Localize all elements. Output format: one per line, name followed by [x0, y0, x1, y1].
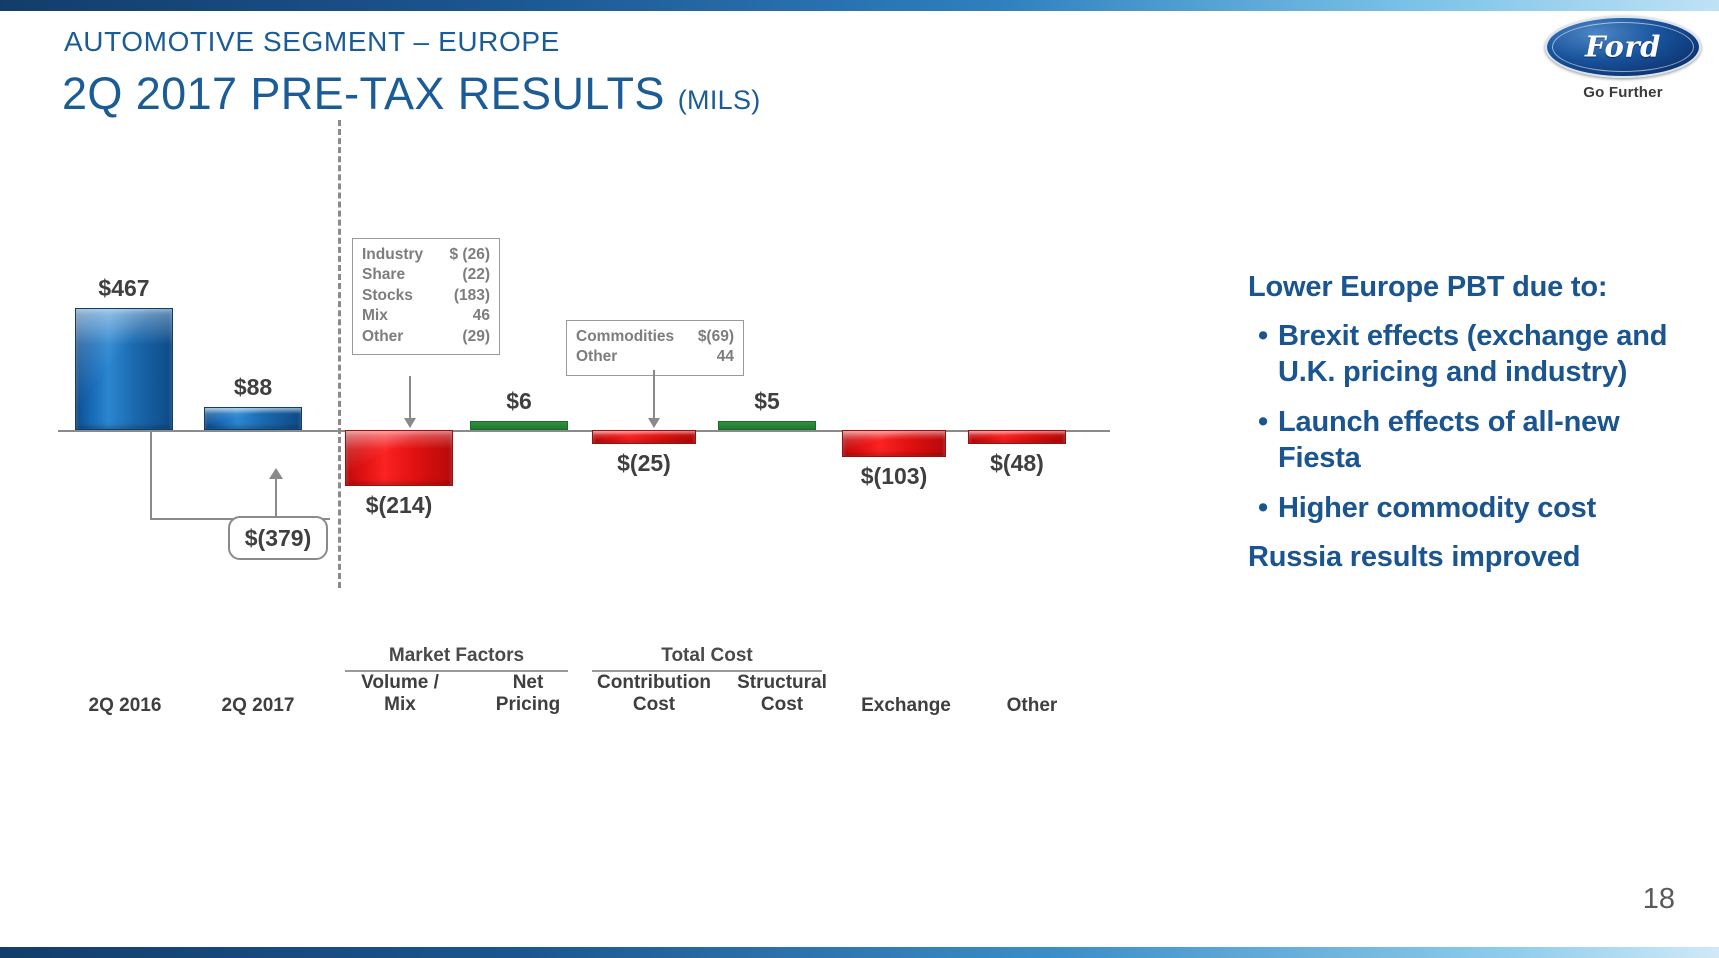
chart-annotation-key: Stocks: [362, 286, 431, 306]
chart-category-label-line: Contribution: [578, 672, 730, 694]
chart-annotation-row: Other44: [576, 347, 734, 367]
bullet-dot-icon: •: [1248, 405, 1278, 477]
chart-annotation-key: Share: [362, 265, 423, 285]
chart-bar-2q-2017: [204, 407, 302, 430]
chart-category-label-line: Cost: [578, 694, 730, 716]
chart-category-label: Volume /Mix: [330, 672, 470, 717]
commentary-bullet-text: Launch effects of all-new Fiesta: [1278, 405, 1698, 477]
chart-category-label-line: 2Q 2017: [188, 695, 328, 717]
chart-annotation-row: Other(29): [362, 327, 490, 347]
chart-category-label-line: Pricing: [458, 694, 598, 716]
chart-bar-structural-cost: [718, 421, 816, 430]
chart-bar-contribution-cost: [592, 430, 696, 444]
chart-section-divider: [338, 120, 341, 588]
chart-annotation-value: (22): [462, 265, 490, 285]
chart-category-label: 2Q 2016: [55, 695, 195, 717]
chart-category-label: Exchange: [836, 695, 976, 717]
commentary-bullet: •Brexit effects (exchange and U.K. prici…: [1248, 319, 1698, 391]
chart-category-label-line: Exchange: [836, 695, 976, 717]
chart-group-label: Market Factors: [345, 645, 568, 667]
page-title: 2Q 2017 PRE-TAX RESULTS (MILS): [62, 68, 761, 120]
commentary-bullet-list: •Brexit effects (exchange and U.K. prici…: [1248, 319, 1698, 527]
chart-annotation-arrow-stem: [653, 370, 655, 418]
ford-logo: Ford Go Further: [1543, 16, 1703, 101]
chart-category-label-line: Mix: [330, 694, 470, 716]
chart-annotation-value: (29): [462, 327, 490, 347]
chart-value-label: $(25): [592, 450, 696, 477]
chart-bar-other: [968, 430, 1066, 444]
chart-category-label: NetPricing: [458, 672, 598, 717]
slide-title: 2Q 2017 PRE-TAX RESULTS: [62, 68, 665, 120]
chart-annotation-row: Stocks(183): [362, 286, 490, 306]
chart-category-label-line: Cost: [712, 694, 852, 716]
chart-group-header: Total Cost: [592, 645, 822, 672]
page-number: 18: [1643, 883, 1675, 916]
chart-group-header: Market Factors: [345, 645, 568, 672]
delta-bracket: [150, 430, 330, 520]
bullet-dot-icon: •: [1248, 319, 1278, 391]
slide-title-units: (MILS): [678, 85, 761, 116]
ford-oval-icon: Ford: [1545, 16, 1701, 78]
chart-annotation-row: Share(22): [362, 265, 490, 285]
chart-group-label: Total Cost: [592, 645, 822, 667]
commentary-bullet-text: Higher commodity cost: [1278, 491, 1698, 527]
chart-annotation-arrow-stem: [409, 376, 411, 418]
chart-category-label: ContributionCost: [578, 672, 730, 717]
chart-bar-net-pricing: [470, 421, 568, 430]
ford-wordmark: Ford: [1547, 29, 1699, 63]
commentary-bullet: •Higher commodity cost: [1248, 491, 1698, 527]
bottom-accent-bar: [0, 947, 1719, 958]
chart-category-label: StructuralCost: [712, 672, 852, 717]
chart-annotation-value: (183): [454, 286, 490, 306]
commentary-panel: Lower Europe PBT due to: •Brexit effects…: [1248, 270, 1698, 574]
delta-arrow-head-icon: [269, 468, 283, 479]
slide-kicker: AUTOMOTIVE SEGMENT – EUROPE: [64, 26, 560, 58]
top-accent-bar: [0, 0, 1719, 11]
chart-annotation-row: Commodities$(69): [576, 327, 734, 347]
delta-callout: $(379): [228, 516, 328, 560]
chart-annotation-box: Industry$ (26)Share(22)Stocks(183)Mix46O…: [352, 238, 500, 355]
chart-annotation-value: 44: [717, 347, 734, 367]
chart-value-label: $88: [204, 374, 302, 401]
chart-category-label-line: Volume /: [330, 672, 470, 694]
commentary-bullet-text: Brexit effects (exchange and U.K. pricin…: [1278, 319, 1698, 391]
chart-annotation-row: Mix46: [362, 306, 490, 326]
chart-bar-exchange: [842, 430, 946, 457]
ford-tagline: Go Further: [1543, 84, 1703, 101]
chart-annotation-box: Commodities$(69)Other44: [566, 320, 744, 376]
chart-value-label: $(103): [842, 463, 946, 490]
chart-annotation-key: Other: [576, 347, 635, 367]
chart-annotation-key: Commodities: [576, 327, 692, 347]
chart-category-label-line: Structural: [712, 672, 852, 694]
chart-category-label-line: Other: [962, 695, 1102, 717]
chart-bar-2q-2016: [75, 308, 173, 430]
chart-annotation-key: Other: [362, 327, 421, 347]
chart-value-label: $6: [470, 388, 568, 415]
chart-value-label: $467: [75, 275, 173, 302]
waterfall-chart: $467$88$(214)$6$(25)$5$(103)$(48)$(379)I…: [0, 120, 1150, 800]
chart-annotation-row: Industry$ (26): [362, 245, 490, 265]
chart-annotation-arrow-head-icon: [648, 418, 660, 428]
chart-annotation-key: Industry: [362, 245, 441, 265]
chart-category-label: 2Q 2017: [188, 695, 328, 717]
commentary-heading: Lower Europe PBT due to:: [1248, 270, 1698, 305]
commentary-bullet: •Launch effects of all-new Fiesta: [1248, 405, 1698, 477]
chart-category-label-line: Net: [458, 672, 598, 694]
chart-category-label-line: 2Q 2016: [55, 695, 195, 717]
chart-annotation-key: Mix: [362, 306, 406, 326]
chart-annotation-value: 46: [473, 306, 490, 326]
chart-value-label: $(48): [968, 450, 1066, 477]
chart-annotation-arrow-head-icon: [404, 418, 416, 428]
chart-annotation-value: $(69): [698, 327, 734, 347]
commentary-footer: Russia results improved: [1248, 541, 1698, 574]
chart-category-label: Other: [962, 695, 1102, 717]
chart-annotation-value: $ (26): [450, 245, 491, 265]
chart-value-label: $(214): [345, 492, 453, 519]
chart-bar-volume-mix: [345, 430, 453, 486]
chart-value-label: $5: [718, 388, 816, 415]
bullet-dot-icon: •: [1248, 491, 1278, 527]
